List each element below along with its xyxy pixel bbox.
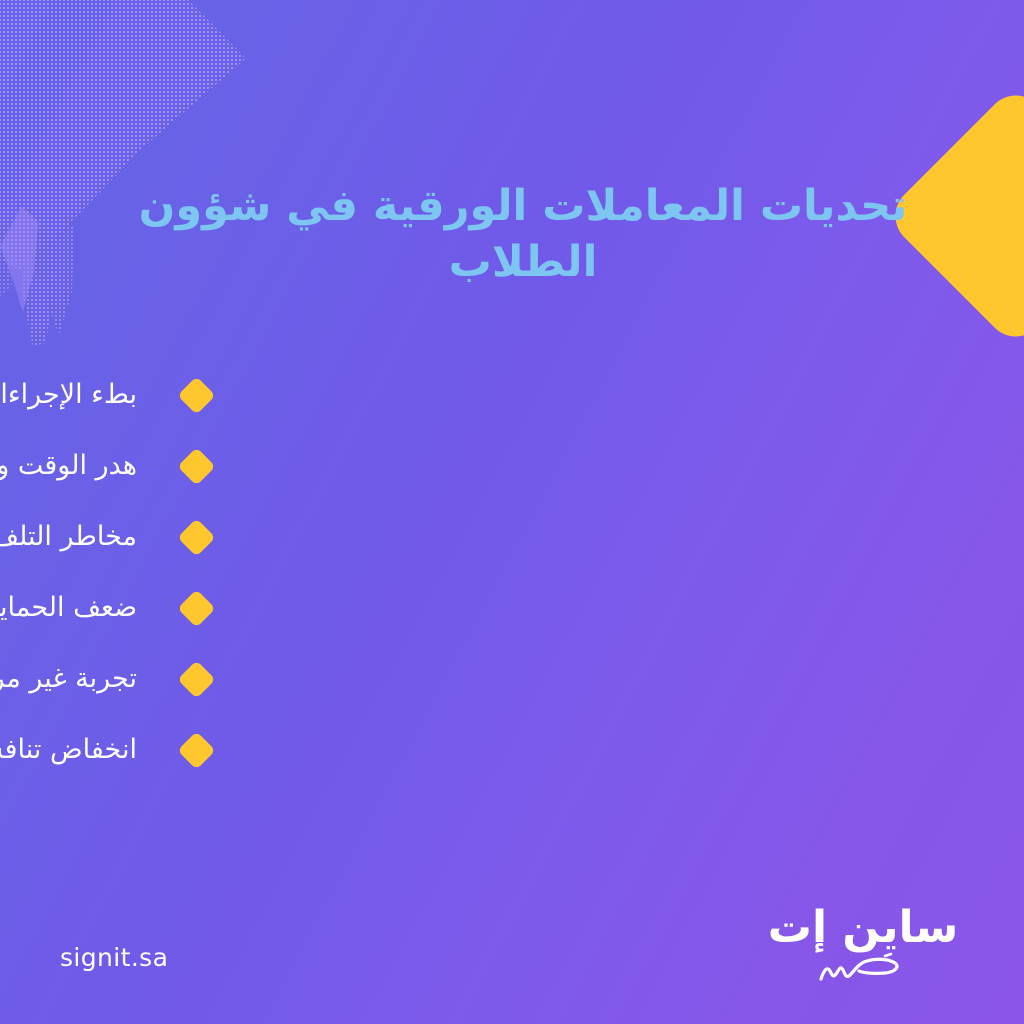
list-item-label: انخفاض تنافسية المؤسسة التعليمية [0, 734, 137, 766]
halftone-drip-2 [0, 0, 246, 350]
diamond-bullet-icon [177, 731, 215, 769]
list-item-label: مخاطر التلف، الضياع، والتزوير [0, 521, 137, 553]
list-item: تجربة غير مريحة للطلاب وأولياء الأمور [0, 644, 1024, 715]
diamond-bullet-icon [177, 376, 215, 414]
list-item: مخاطر التلف، الضياع، والتزوير [0, 502, 1024, 573]
list-item-label: بطء الإجراءات وارتفاع تكاليف الطباعة وال… [0, 379, 137, 411]
page-title: تحديات المعاملات الورقية في شؤون الطلاب [110, 179, 936, 291]
diamond-bullet-icon [177, 518, 215, 556]
halftone-shape-main [0, 0, 246, 350]
list-item-label: ضعف الحماية القانونية عند النزاعات [0, 592, 137, 624]
brand-name-label: ساين إت [758, 906, 968, 950]
diamond-bullet-icon [177, 447, 215, 485]
halftone-solid-drip [0, 206, 62, 312]
website-url: signit.sa [60, 943, 168, 972]
handwritten-signature-icon [758, 952, 968, 986]
challenges-list: بطء الإجراءات وارتفاع تكاليف الطباعة وال… [0, 360, 1024, 786]
list-item: انخفاض تنافسية المؤسسة التعليمية [0, 715, 1024, 786]
list-item-label: هدر الوقت والموارد البشرية في المعالجة ا… [0, 450, 137, 482]
list-item-label: تجربة غير مريحة للطلاب وأولياء الأمور [0, 663, 137, 695]
diamond-bullet-icon [177, 589, 215, 627]
list-item: هدر الوقت والموارد البشرية في المعالجة ا… [0, 431, 1024, 502]
brand-logo: ساين إت [758, 906, 968, 986]
diamond-bullet-icon [177, 660, 215, 698]
halftone-decoration [0, 0, 246, 350]
social-card: تحديات المعاملات الورقية في شؤون الطلاب … [0, 0, 1024, 1024]
halftone-drip-3 [0, 0, 246, 350]
list-item: بطء الإجراءات وارتفاع تكاليف الطباعة وال… [0, 360, 1024, 431]
halftone-drip-1 [0, 0, 246, 350]
list-item: ضعف الحماية القانونية عند النزاعات [0, 573, 1024, 644]
